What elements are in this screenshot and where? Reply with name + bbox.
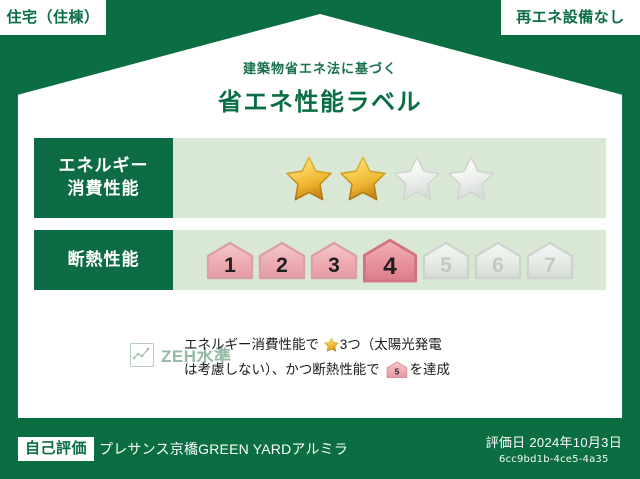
grade-label: 2 bbox=[276, 254, 288, 277]
grade-label: 4 bbox=[383, 253, 397, 280]
row-label-energy-performance: エネルギー 消費性能 bbox=[34, 138, 173, 218]
row-label-insulation-performance: 断熱性能 bbox=[34, 230, 173, 290]
grade-badge-7: 7 bbox=[526, 238, 574, 282]
grade-badge-5: 5 bbox=[422, 238, 470, 282]
page-title: 省エネ性能ラベル bbox=[0, 82, 640, 117]
rating-rows: エネルギー 消費性能 断熱性能 1234567 bbox=[34, 138, 606, 302]
grade-label: 5 bbox=[440, 254, 452, 277]
tag-building-type: 住宅（住棟） bbox=[0, 0, 106, 35]
inline-grade-badge: 5 bbox=[382, 366, 408, 381]
zeh-desc-part1: エネルギー消費性能で bbox=[184, 337, 319, 352]
zeh-desc-part3: を達成 bbox=[410, 362, 451, 377]
grade-badge-1: 1 bbox=[206, 238, 254, 282]
building-name: プレサンス京橋GREEN YARDアルミラ bbox=[99, 439, 348, 459]
title-subtitle: 建築物省エネ法に基づく bbox=[0, 58, 640, 77]
label-title-block: 建築物省エネ法に基づく 省エネ性能ラベル bbox=[0, 58, 640, 117]
grade-badge-4: 4 bbox=[362, 235, 418, 285]
footer-meta: 評価日 2024年10月3日 6cc9bd1b-4ce5-4a35 bbox=[486, 432, 622, 465]
grade-badge-2: 2 bbox=[258, 238, 306, 282]
grade-label: 6 bbox=[492, 254, 504, 277]
row-label-line1: エネルギー bbox=[59, 155, 149, 178]
row-label-line2: 消費性能 bbox=[68, 178, 140, 201]
star-empty-icon bbox=[392, 154, 442, 202]
grade-label: 3 bbox=[328, 254, 340, 277]
zeh-section: ZEH水準 エネルギー消費性能で 3つ（太陽光発電 は考慮しない）、かつ断熱性能… bbox=[34, 330, 606, 386]
inline-grade-value: 5 bbox=[394, 367, 399, 377]
evaluation-date: 評価日 2024年10月3日 bbox=[486, 432, 622, 451]
self-evaluation-badge: 自己評価 bbox=[18, 437, 94, 461]
zeh-description: エネルギー消費性能で 3つ（太陽光発電 は考慮しない）、かつ断熱性能で 5 を達… bbox=[184, 330, 606, 386]
star-empty-icon bbox=[446, 154, 496, 202]
star-rating bbox=[173, 138, 606, 218]
grade-label: 1 bbox=[224, 254, 236, 277]
label-footer: 自己評価 プレサンス京橋GREEN YARDアルミラ 評価日 2024年10月3… bbox=[0, 418, 640, 479]
zeh-desc-star-count: 3つ（太陽光発電 bbox=[340, 337, 442, 352]
zeh-chart-icon bbox=[130, 343, 154, 367]
star-filled-icon bbox=[338, 154, 388, 202]
row-insulation-performance: 断熱性能 1234567 bbox=[34, 230, 606, 290]
row-energy-performance: エネルギー 消費性能 bbox=[34, 138, 606, 218]
tag-renewable-energy: 再エネ設備なし bbox=[501, 0, 640, 35]
grade-badge-6: 6 bbox=[474, 238, 522, 282]
grade-scale: 1234567 bbox=[173, 230, 606, 290]
energy-performance-label: 住宅（住棟） 再エネ設備なし 建築物省エネ法に基づく 省エネ性能ラベル エネルギ… bbox=[0, 0, 640, 479]
star-filled-icon bbox=[284, 154, 334, 202]
evaluation-id: 6cc9bd1b-4ce5-4a35 bbox=[486, 454, 622, 465]
zeh-desc-part2: は考慮しない）、かつ断熱性能で bbox=[184, 362, 380, 377]
grade-badge-3: 3 bbox=[310, 238, 358, 282]
grade-label: 7 bbox=[544, 254, 556, 277]
zeh-badge: ZEH水準 bbox=[34, 330, 184, 367]
inline-star-icon bbox=[320, 340, 339, 355]
